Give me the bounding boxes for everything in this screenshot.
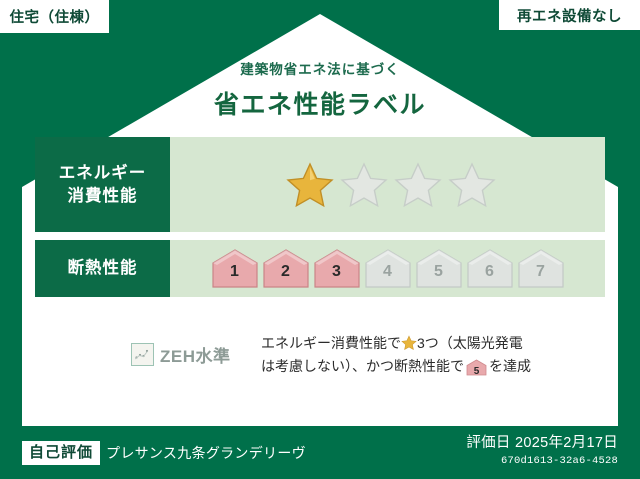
star-rating-strip [286, 161, 496, 209]
insulation-grade-badge: 6 [466, 248, 514, 289]
zeh-mark-label: ZEH水準 [160, 342, 231, 367]
insulation-grade-value: 4 [383, 263, 392, 289]
energy-rating-body [170, 137, 605, 232]
insulation-grade-value: 7 [536, 263, 545, 289]
energy-label-line1: エネルギー [59, 162, 147, 184]
zeh-desc-part2: は考慮しない）、かつ断熱性能で [261, 358, 464, 374]
star-empty-icon [394, 161, 442, 209]
inline-star-icon [401, 335, 417, 351]
inline-grade-badge: 5 [466, 359, 487, 376]
zeh-note-block: ZEH水準 エネルギー消費性能で3つ（太陽光発電は考慮しない）、かつ断熱性能で5… [35, 332, 605, 377]
insulation-rating-body: 1234567 [170, 240, 605, 297]
zeh-mark: ZEH水準 [35, 332, 249, 367]
energy-label-line2: 消費性能 [68, 185, 138, 207]
insulation-grade-badge: 7 [517, 248, 565, 289]
energy-performance-row: エネルギー 消費性能 [35, 137, 605, 232]
page-title: 省エネ性能ラベル [0, 85, 640, 121]
star-empty-icon [340, 161, 388, 209]
insulation-grade-value: 5 [434, 263, 443, 289]
renewable-equipment-tag: 再エネ設備なし [499, 0, 640, 30]
energy-performance-label-cell: エネルギー 消費性能 [35, 137, 170, 232]
zeh-desc-part1: エネルギー消費性能で [261, 335, 401, 351]
building-type-tag: 住宅（住棟） [0, 0, 109, 33]
insulation-grade-badge: 1 [211, 248, 259, 289]
zeh-chart-icon [131, 343, 154, 366]
star-filled-icon [286, 161, 334, 209]
insulation-grade-badge: 2 [262, 248, 310, 289]
insulation-grade-value: 1 [230, 263, 239, 289]
inline-grade-value: 5 [466, 359, 487, 380]
zeh-desc-part3: を達成 [489, 358, 531, 374]
insulation-performance-label-cell: 断熱性能 [35, 240, 170, 297]
insulation-label-line1: 断熱性能 [68, 257, 138, 279]
assessment-type-badge: 自己評価 [22, 441, 100, 465]
evaluation-date: 評価日 2025年2月17日 [466, 431, 618, 452]
insulation-grade-value: 2 [281, 263, 290, 289]
insulation-grade-badge: 5 [415, 248, 463, 289]
label-id: 670d1613-32a6-4528 [466, 455, 618, 467]
project-name: プレサンス九条グランデリーヴ [106, 443, 306, 463]
label-title-block: 建築物省エネ法に基づく 省エネ性能ラベル [0, 58, 640, 121]
star-empty-icon [448, 161, 496, 209]
insulation-grade-badge: 3 [313, 248, 361, 289]
insulation-grade-value: 3 [332, 263, 341, 289]
energy-performance-label: 住宅（住棟） 再エネ設備なし 建築物省エネ法に基づく 省エネ性能ラベル エネルギ… [0, 0, 640, 479]
insulation-grade-strip: 1234567 [211, 248, 565, 289]
insulation-performance-row: 断熱性能 1234567 [35, 240, 605, 297]
zeh-description: エネルギー消費性能で3つ（太陽光発電は考慮しない）、かつ断熱性能で5を達成 [249, 332, 605, 377]
footer-right: 評価日 2025年2月17日 670d1613-32a6-4528 [466, 431, 618, 467]
insulation-grade-badge: 4 [364, 248, 412, 289]
footer-left: 自己評価 プレサンス九条グランデリーヴ [22, 441, 306, 465]
title-subtitle: 建築物省エネ法に基づく [0, 58, 640, 78]
insulation-grade-value: 6 [485, 263, 494, 289]
zeh-desc-star-count: 3つ（太陽光発電 [417, 335, 523, 351]
